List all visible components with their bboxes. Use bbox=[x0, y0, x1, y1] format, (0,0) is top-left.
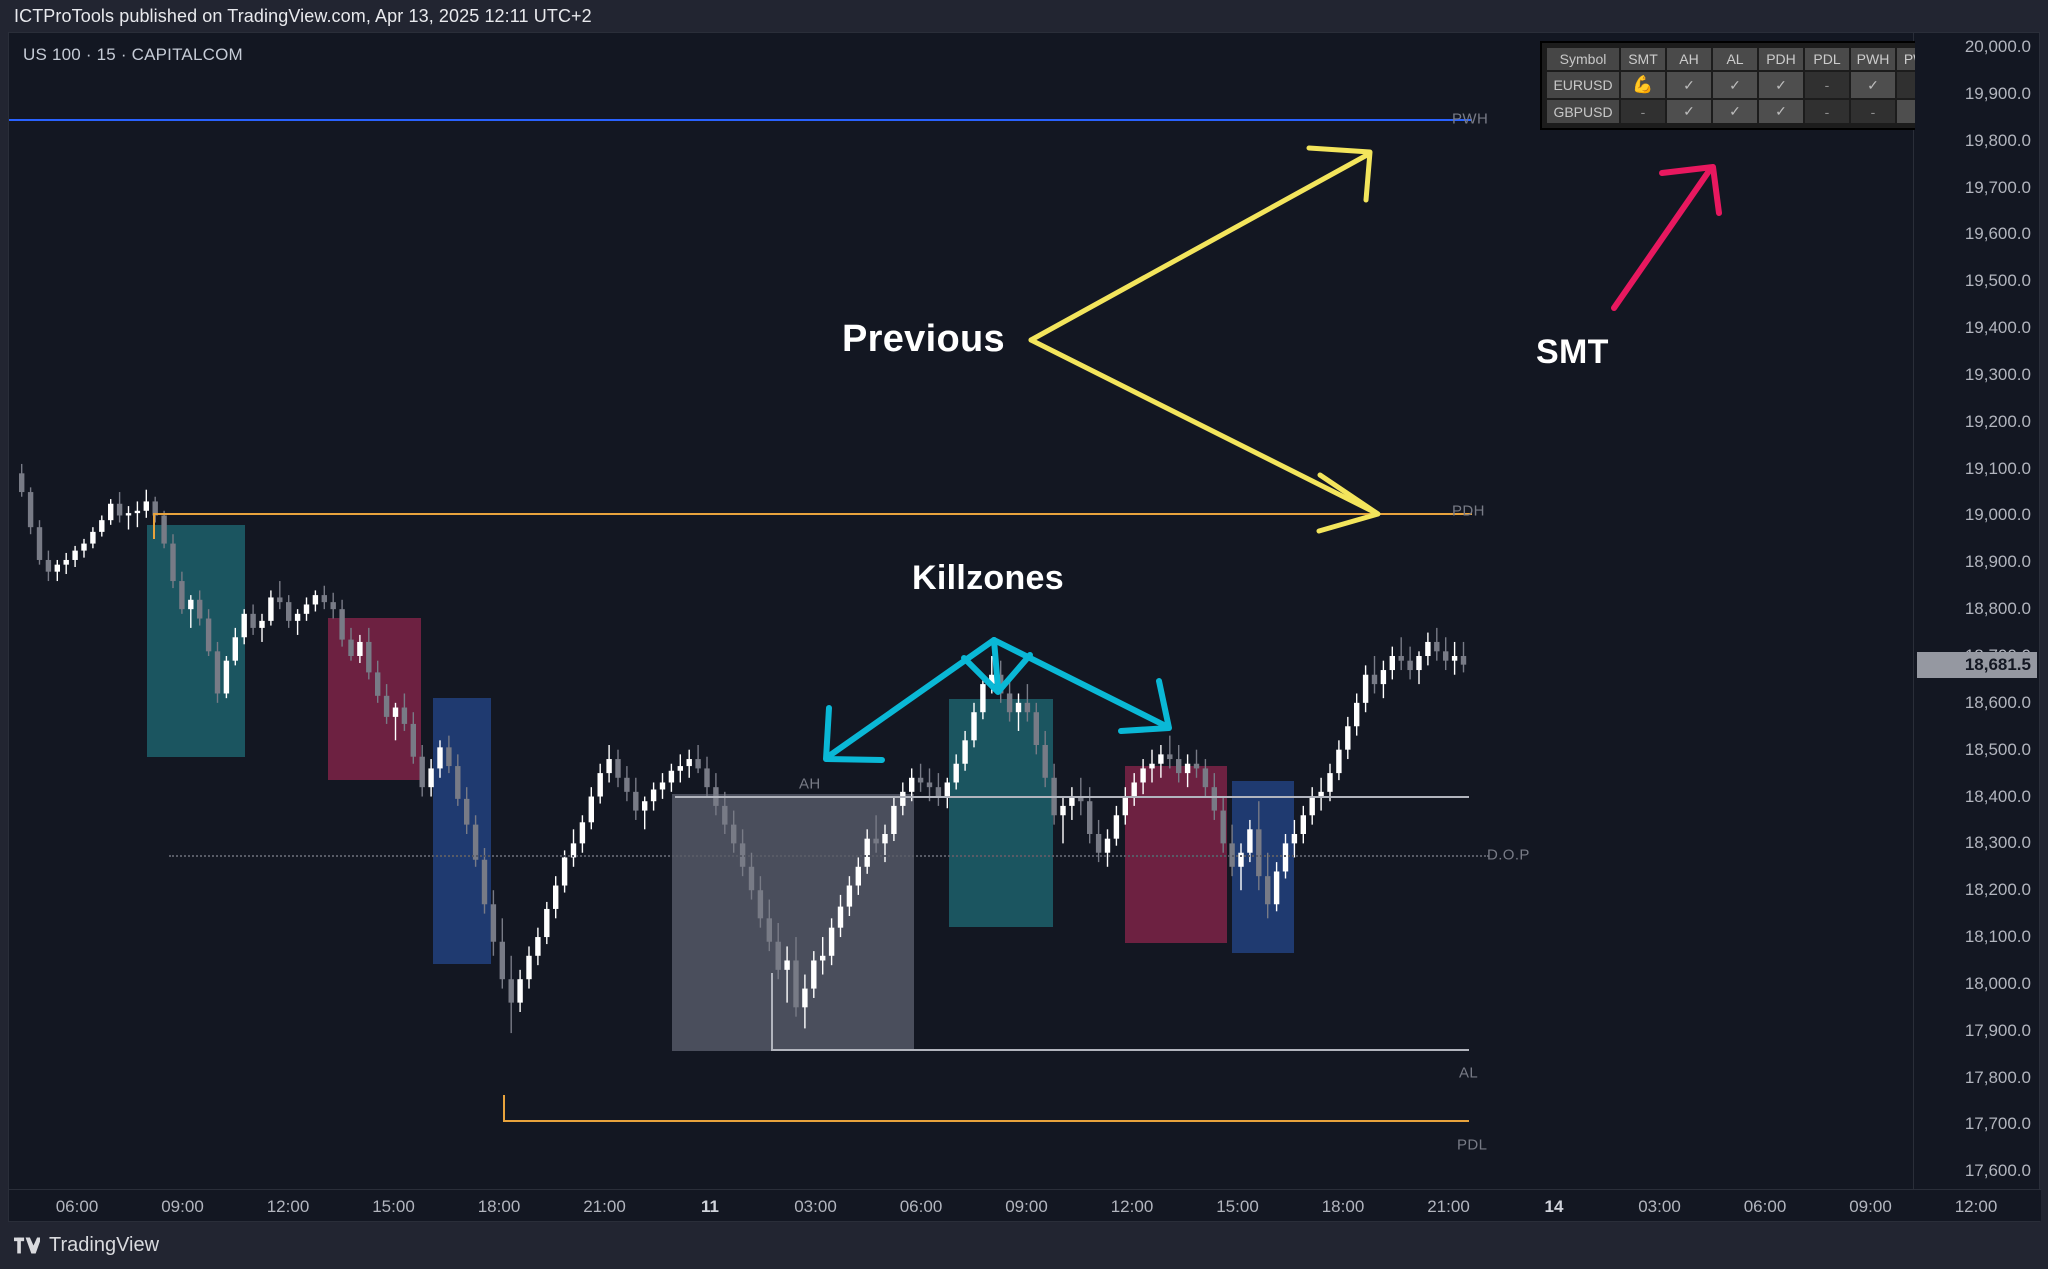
candle-body bbox=[126, 513, 131, 515]
smt-table[interactable]: SymbolSMTAHALPDHPDLPWHPWLPMHPMLEURUSD💪✓✓… bbox=[1540, 41, 1915, 130]
candle-body bbox=[918, 778, 923, 783]
price-tick: 19,300.0 bbox=[1965, 365, 2031, 385]
level-label-dop: D.O.P bbox=[1487, 847, 1530, 864]
level-label-pdl: PDL bbox=[1457, 1137, 1487, 1154]
time-tick: 03:00 bbox=[794, 1197, 837, 1217]
candle-body bbox=[37, 527, 42, 560]
candle-body bbox=[704, 768, 709, 787]
smt-cell: - bbox=[1805, 100, 1849, 123]
killzone-asia-range-box bbox=[672, 794, 914, 1051]
candle-body bbox=[909, 778, 914, 792]
candle-body bbox=[1060, 806, 1065, 815]
killzone-ny-1 bbox=[433, 698, 491, 964]
smt-cell: ✓ bbox=[1667, 72, 1711, 98]
time-tick: 06:00 bbox=[56, 1197, 99, 1217]
price-tick: 19,500.0 bbox=[1965, 271, 2031, 291]
price-scale[interactable]: 20,000.019,900.019,800.019,700.019,600.0… bbox=[1913, 33, 2039, 1190]
price-tick: 18,500.0 bbox=[1965, 740, 2031, 760]
chart-frame: US 100 · 15 · CAPITALCOM PWH PDH AH D.O.… bbox=[8, 32, 2040, 1222]
candle-body bbox=[90, 532, 95, 544]
candle-body bbox=[517, 979, 522, 1002]
price-tick: 18,100.0 bbox=[1965, 927, 2031, 947]
time-scale[interactable]: 06:0009:0012:0015:0018:0021:001103:0006:… bbox=[9, 1189, 2041, 1221]
level-line-pdl bbox=[503, 1120, 1469, 1122]
time-tick: 09:00 bbox=[1005, 1197, 1048, 1217]
level-line-pdh-riser bbox=[153, 513, 155, 539]
candle-body bbox=[1434, 642, 1439, 651]
last-price-badge: 18,681.5 bbox=[1917, 652, 2037, 678]
candle-body bbox=[295, 614, 300, 621]
candle-body bbox=[322, 595, 327, 602]
candle-body bbox=[1363, 675, 1368, 703]
price-tick: 18,200.0 bbox=[1965, 880, 2031, 900]
candle-body bbox=[624, 778, 629, 792]
candle-body bbox=[633, 792, 638, 811]
candle-body bbox=[535, 937, 540, 956]
smt-cell: - bbox=[1805, 72, 1849, 98]
candle-body bbox=[46, 560, 51, 572]
annotation-arrows bbox=[9, 33, 1915, 1190]
smt-cell: - bbox=[1851, 100, 1895, 123]
candle-body bbox=[117, 504, 122, 516]
candle-body bbox=[64, 560, 69, 565]
candle-body bbox=[1407, 661, 1412, 670]
candle-body bbox=[927, 782, 932, 787]
candle-body bbox=[695, 759, 700, 768]
candle-body bbox=[562, 857, 567, 885]
price-tick: 19,400.0 bbox=[1965, 318, 2031, 338]
smt-header-cell: Symbol bbox=[1547, 48, 1619, 70]
candle-body bbox=[687, 759, 692, 766]
candle-body bbox=[55, 565, 60, 572]
time-tick: 15:00 bbox=[1216, 1197, 1259, 1217]
smt-header-cell: AH bbox=[1667, 48, 1711, 70]
candle-body bbox=[589, 797, 594, 823]
candle-body bbox=[144, 501, 149, 510]
tradingview-logo-icon bbox=[14, 1237, 40, 1254]
time-tick: 06:00 bbox=[900, 1197, 943, 1217]
smt-symbol-cell: EURUSD bbox=[1547, 72, 1619, 98]
time-tick: 18:00 bbox=[1322, 1197, 1365, 1217]
candle-body bbox=[1310, 797, 1315, 816]
price-tick: 18,000.0 bbox=[1965, 974, 2031, 994]
killzone-asia-1 bbox=[147, 525, 245, 757]
smt-table-grid: SymbolSMTAHALPDHPDLPWHPWLPMHPMLEURUSD💪✓✓… bbox=[1545, 46, 1915, 125]
candle-body bbox=[598, 773, 603, 796]
candle-body bbox=[526, 956, 531, 979]
smt-header-cell: PWL bbox=[1897, 48, 1915, 70]
smt-header-cell: PDH bbox=[1759, 48, 1803, 70]
level-line-pdl-riser bbox=[503, 1095, 505, 1122]
candle-body bbox=[1327, 773, 1332, 792]
chart-plot-area[interactable]: US 100 · 15 · CAPITALCOM PWH PDH AH D.O.… bbox=[9, 33, 1915, 1190]
candle-body bbox=[1167, 754, 1172, 759]
level-line-pwh bbox=[9, 119, 1472, 121]
smt-cell: ✓ bbox=[1667, 100, 1711, 123]
smt-row: EURUSD💪✓✓✓-✓-✓- bbox=[1547, 72, 1915, 98]
time-tick: 21:00 bbox=[583, 1197, 626, 1217]
candle-body bbox=[304, 604, 309, 613]
smt-arrow bbox=[1614, 167, 1719, 308]
candle-body bbox=[1336, 750, 1341, 773]
killzone-asia-2 bbox=[949, 699, 1053, 927]
smt-header-cell: PWH bbox=[1851, 48, 1895, 70]
time-tick: 12:00 bbox=[1955, 1197, 1998, 1217]
annotation-previous: Previous bbox=[842, 318, 1005, 361]
candle-body bbox=[286, 602, 291, 621]
price-tick: 18,800.0 bbox=[1965, 599, 2031, 619]
annotation-smt: SMT bbox=[1536, 333, 1609, 372]
candle-body bbox=[19, 473, 24, 492]
level-line-al bbox=[771, 1049, 1469, 1051]
annotation-killzones: Killzones bbox=[912, 559, 1064, 598]
candle-body bbox=[500, 942, 505, 979]
time-tick: 18:00 bbox=[478, 1197, 521, 1217]
candle-body bbox=[989, 675, 994, 684]
smt-cell: ✓ bbox=[1851, 72, 1895, 98]
smt-cell: ✓ bbox=[1713, 72, 1757, 98]
time-tick: 09:00 bbox=[1849, 1197, 1892, 1217]
tradingview-footer-bar: TradingView bbox=[0, 1222, 2048, 1269]
level-line-dop bbox=[169, 855, 1489, 857]
candle-body bbox=[544, 909, 549, 937]
candle-body bbox=[250, 614, 255, 628]
candlestick-series bbox=[9, 33, 1915, 1190]
candle-body bbox=[28, 492, 33, 527]
smt-cell: 💪 bbox=[1621, 72, 1665, 98]
level-line-ah bbox=[675, 796, 1469, 798]
candle-body bbox=[1452, 656, 1457, 661]
price-tick: 20,000.0 bbox=[1965, 37, 2031, 57]
level-label-pdh: PDH bbox=[1452, 503, 1485, 520]
price-tick: 18,600.0 bbox=[1965, 693, 2031, 713]
tradingview-brand-text: TradingView bbox=[49, 1234, 159, 1257]
candle-body bbox=[580, 822, 585, 843]
previous-arrow-lower bbox=[1031, 340, 1378, 531]
level-label-al: AL bbox=[1459, 1065, 1478, 1082]
candle-body bbox=[277, 597, 282, 602]
candle-body bbox=[99, 520, 104, 532]
candle-body bbox=[1114, 815, 1119, 838]
smt-row: GBPUSD-✓✓✓--✓✓- bbox=[1547, 100, 1915, 123]
candle-body bbox=[1399, 656, 1404, 661]
smt-cell: ✓ bbox=[1759, 72, 1803, 98]
price-tick: 18,900.0 bbox=[1965, 552, 2031, 572]
candle-body bbox=[1301, 815, 1306, 834]
smt-cell: ✓ bbox=[1897, 100, 1915, 123]
time-tick: 09:00 bbox=[161, 1197, 204, 1217]
level-line-al-riser bbox=[771, 973, 773, 1051]
smt-symbol-cell: GBPUSD bbox=[1547, 100, 1619, 123]
smt-header-cell: SMT bbox=[1621, 48, 1665, 70]
price-tick: 19,100.0 bbox=[1965, 459, 2031, 479]
candle-body bbox=[1390, 656, 1395, 670]
candle-body bbox=[491, 904, 496, 941]
killzones-arrow-center bbox=[964, 640, 1030, 692]
candle-body bbox=[1372, 675, 1377, 684]
candle-body bbox=[1345, 726, 1350, 749]
candle-body bbox=[553, 886, 558, 909]
candle-body bbox=[268, 597, 273, 620]
candle-body bbox=[509, 979, 514, 1002]
candle-body bbox=[1461, 656, 1466, 665]
smt-header-row: SymbolSMTAHALPDHPDLPWHPWLPMHPML bbox=[1547, 48, 1915, 70]
time-tick: 15:00 bbox=[372, 1197, 415, 1217]
price-tick: 17,800.0 bbox=[1965, 1068, 2031, 1088]
candle-body bbox=[81, 544, 86, 551]
time-tick: 06:00 bbox=[1744, 1197, 1787, 1217]
candle-body bbox=[606, 759, 611, 773]
killzone-ny-2 bbox=[1232, 781, 1294, 953]
price-tick: 17,600.0 bbox=[1965, 1161, 2031, 1181]
candle-body bbox=[135, 511, 140, 513]
candle-body bbox=[1416, 656, 1421, 670]
price-tick: 19,600.0 bbox=[1965, 224, 2031, 244]
candle-body bbox=[1096, 834, 1101, 853]
candle-body bbox=[1443, 651, 1448, 660]
candle-body bbox=[998, 675, 1003, 694]
candle-body bbox=[678, 766, 683, 771]
time-tick: 03:00 bbox=[1638, 1197, 1681, 1217]
publisher-bar: ICTProTools published on TradingView.com… bbox=[0, 0, 2048, 32]
smt-cell: ✓ bbox=[1759, 100, 1803, 123]
price-tick: 19,900.0 bbox=[1965, 84, 2031, 104]
price-tick: 17,900.0 bbox=[1965, 1021, 2031, 1041]
time-tick: 12:00 bbox=[267, 1197, 310, 1217]
candle-body bbox=[259, 621, 264, 628]
candle-body bbox=[313, 595, 318, 604]
smt-cell: - bbox=[1621, 100, 1665, 123]
smt-header-cell: PDL bbox=[1805, 48, 1849, 70]
level-label-pwh: PWH bbox=[1452, 111, 1488, 128]
candle-body bbox=[660, 782, 665, 789]
price-tick: 18,300.0 bbox=[1965, 833, 2031, 853]
smt-cell: - bbox=[1897, 72, 1915, 98]
candle-body bbox=[1087, 801, 1092, 834]
price-tick: 19,700.0 bbox=[1965, 178, 2031, 198]
publisher-text: ICTProTools published on TradingView.com… bbox=[14, 6, 592, 27]
level-label-ah: AH bbox=[799, 776, 821, 793]
price-tick: 19,000.0 bbox=[1965, 505, 2031, 525]
candle-body bbox=[651, 790, 656, 802]
candle-body bbox=[615, 759, 620, 778]
time-tick: 12:00 bbox=[1111, 1197, 1154, 1217]
previous-arrow-upper bbox=[1031, 148, 1370, 340]
candle-body bbox=[1158, 754, 1163, 763]
candle-body bbox=[642, 801, 647, 810]
killzone-london-1 bbox=[328, 618, 421, 780]
candle-body bbox=[1425, 642, 1430, 656]
chart-legend-text: US 100 · 15 · CAPITALCOM bbox=[23, 45, 243, 64]
chart-legend: US 100 · 15 · CAPITALCOM bbox=[23, 45, 243, 65]
price-tick: 19,200.0 bbox=[1965, 412, 2031, 432]
candle-body bbox=[1354, 703, 1359, 726]
price-tick: 19,800.0 bbox=[1965, 131, 2031, 151]
price-tick: 18,400.0 bbox=[1965, 787, 2031, 807]
smt-header-cell: AL bbox=[1713, 48, 1757, 70]
candle-body bbox=[1105, 839, 1110, 853]
candle-body bbox=[331, 602, 336, 609]
candle-body bbox=[669, 771, 674, 783]
candle-body bbox=[108, 504, 113, 520]
time-tick: 11 bbox=[701, 1197, 719, 1217]
smt-cell: ✓ bbox=[1713, 100, 1757, 123]
time-tick: 21:00 bbox=[1427, 1197, 1470, 1217]
level-line-pdh bbox=[153, 513, 1472, 515]
price-tick: 17,700.0 bbox=[1965, 1114, 2031, 1134]
candle-body bbox=[72, 551, 77, 560]
candle-body bbox=[1381, 670, 1386, 684]
time-tick: 14 bbox=[1545, 1197, 1564, 1217]
